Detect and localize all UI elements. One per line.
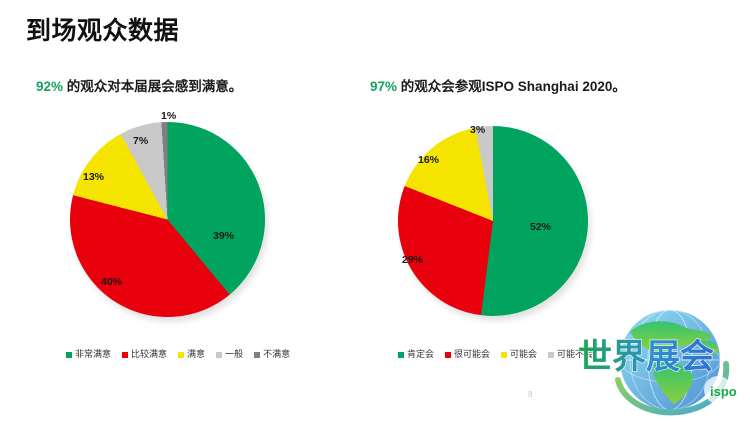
legend-item[interactable]: 不满意 [254,350,290,359]
legend-item[interactable]: 比较满意 [122,350,167,359]
slice-label-satisfaction-2: 13% [83,171,104,183]
slice-label-revisit-2: 16% [418,154,439,166]
pie-satisfaction [70,122,265,317]
legend-swatch-icon [122,352,128,358]
watermark-text: 世界展会 [578,338,714,376]
legend-label: 不满意 [263,350,290,359]
chart-panel-satisfaction: 92% 的观众对本届展会感到满意。 39% 40% 13% 7% 1% 非常满意… [28,78,358,327]
legend-swatch-icon [445,352,451,358]
slice-label-satisfaction-3: 7% [133,135,148,147]
panel-subtitle-revisit: 97% 的观众会参观ISPO Shanghai 2020。 [370,78,700,96]
legend-swatch-icon [216,352,222,358]
legend-item[interactable]: 一般 [216,350,243,359]
slice-label-revisit-3: 3% [470,124,485,136]
legend-swatch-icon [398,352,404,358]
legend-satisfaction: 非常满意比较满意满意一般不满意 [66,350,290,359]
svg-text:ispo: ispo [710,384,737,399]
legend-item[interactable]: 肯定会 [398,350,434,359]
legend-label: 满意 [187,350,205,359]
slice-label-revisit-1: 29% [402,254,423,266]
legend-swatch-icon [548,352,554,358]
pie-chart-revisit: 52% 29% 16% 3% [370,102,700,327]
chart-panel-revisit: 97% 的观众会参观ISPO Shanghai 2020。 52% 29% 16… [370,78,700,327]
headline-text-satisfaction: 的观众对本届展会感到满意。 [67,79,243,94]
ispo-badge-icon: ispo [704,376,737,404]
headline-text-revisit: 的观众会参观ISPO Shanghai 2020。 [401,79,626,94]
legend-label: 肯定会 [407,350,434,359]
legend-swatch-icon [66,352,72,358]
slice-label-satisfaction-1: 40% [101,276,122,288]
legend-label: 非常满意 [75,350,111,359]
page-title: 到场观众数据 [26,18,179,46]
legend-revisit: 肯定会很可能会可能会可能不会 [398,350,593,359]
legend-item[interactable]: 满意 [178,350,205,359]
legend-label: 很可能会 [454,350,490,359]
legend-swatch-icon [178,352,184,358]
slice-label-revisit-0: 52% [530,221,551,233]
legend-label: 一般 [225,350,243,359]
pie-chart-satisfaction: 39% 40% 13% 7% 1% [28,102,358,327]
slice-label-satisfaction-0: 39% [213,230,234,242]
headline-percent-revisit: 97% [370,79,397,94]
legend-label: 可能不会 [557,350,593,359]
legend-item[interactable]: 可能不会 [548,350,593,359]
legend-item[interactable]: 非常满意 [66,350,111,359]
legend-swatch-icon [501,352,507,358]
panel-subtitle-satisfaction: 92% 的观众对本届展会感到满意。 [28,78,358,96]
legend-label: 比较满意 [131,350,167,359]
legend-label: 可能会 [510,350,537,359]
legend-swatch-icon [254,352,260,358]
page-number: 8 [528,390,532,399]
legend-item[interactable]: 很可能会 [445,350,490,359]
slice-label-satisfaction-4: 1% [161,110,176,122]
legend-item[interactable]: 可能会 [501,350,537,359]
headline-percent-satisfaction: 92% [36,79,63,94]
